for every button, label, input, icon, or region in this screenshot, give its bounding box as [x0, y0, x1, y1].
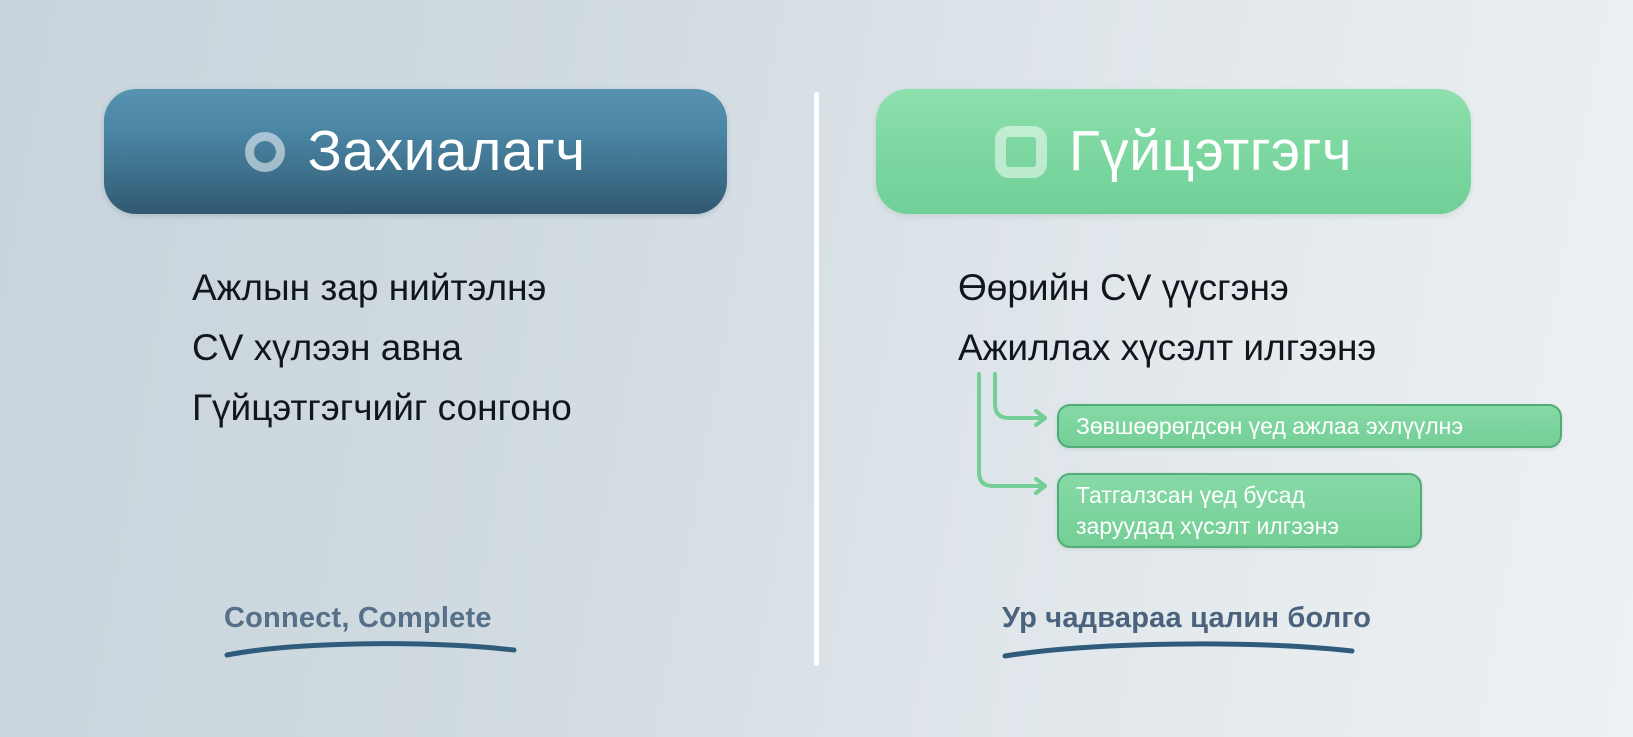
- list-item: Ажиллах хүсэлт илгээнэ: [958, 318, 1376, 378]
- swash-underline-icon: [224, 638, 524, 658]
- tagline-performer: Ур чадвараа цалин болго: [1002, 602, 1371, 635]
- branch-pill-rejected-label: Татгалзсан үед бусад заруудад хүсэлт илг…: [1076, 480, 1339, 542]
- tagline-customer: Connect, Complete: [224, 602, 524, 635]
- list-item: Өөрийн CV үүсгэнэ: [958, 258, 1376, 318]
- branch-pill-approved[interactable]: Зөвшөөрөгдсөн үед ажлаа эхлүүлнэ: [1057, 404, 1562, 448]
- header-customer-title: Захиалагч: [307, 123, 585, 180]
- column-customer: Захиалагч Ажлын зар нийтэлнэ CV хүлээн а…: [0, 0, 816, 737]
- list-item: Гүйцэтгэгчийг сонгоно: [192, 378, 572, 438]
- body-list-performer: Өөрийн CV үүсгэнэ Ажиллах хүсэлт илгээнэ: [958, 258, 1376, 378]
- branch-pill-rejected-line1: Татгалзсан үед бусад: [1076, 480, 1339, 511]
- infographic-canvas: Захиалагч Ажлын зар нийтэлнэ CV хүлээн а…: [0, 0, 1633, 737]
- header-performer-title: Гүйцэтгэгч: [1069, 123, 1352, 180]
- branch-connector: [972, 372, 1056, 500]
- branch-pill-rejected-line2: заруудад хүсэлт илгээнэ: [1076, 511, 1339, 542]
- list-item: CV хүлээн авна: [192, 318, 572, 378]
- header-customer[interactable]: Захиалагч: [104, 89, 727, 214]
- rounded-square-icon: [995, 126, 1047, 178]
- footer-customer: Connect, Complete: [224, 602, 524, 658]
- header-performer[interactable]: Гүйцэтгэгч: [876, 89, 1471, 214]
- swash-underline-icon: [1002, 638, 1362, 660]
- body-list-customer: Ажлын зар нийтэлнэ CV хүлээн авна Гүйцэт…: [192, 258, 572, 438]
- branch-pill-approved-label: Зөвшөөрөгдсөн үед ажлаа эхлүүлнэ: [1076, 413, 1463, 440]
- branch-pill-rejected[interactable]: Татгалзсан үед бусад заруудад хүсэлт илг…: [1057, 473, 1422, 548]
- list-item: Ажлын зар нийтэлнэ: [192, 258, 572, 318]
- branch-arrows-icon: [972, 372, 1056, 500]
- footer-performer: Ур чадвараа цалин болго: [1002, 602, 1371, 660]
- circle-icon: [245, 132, 285, 172]
